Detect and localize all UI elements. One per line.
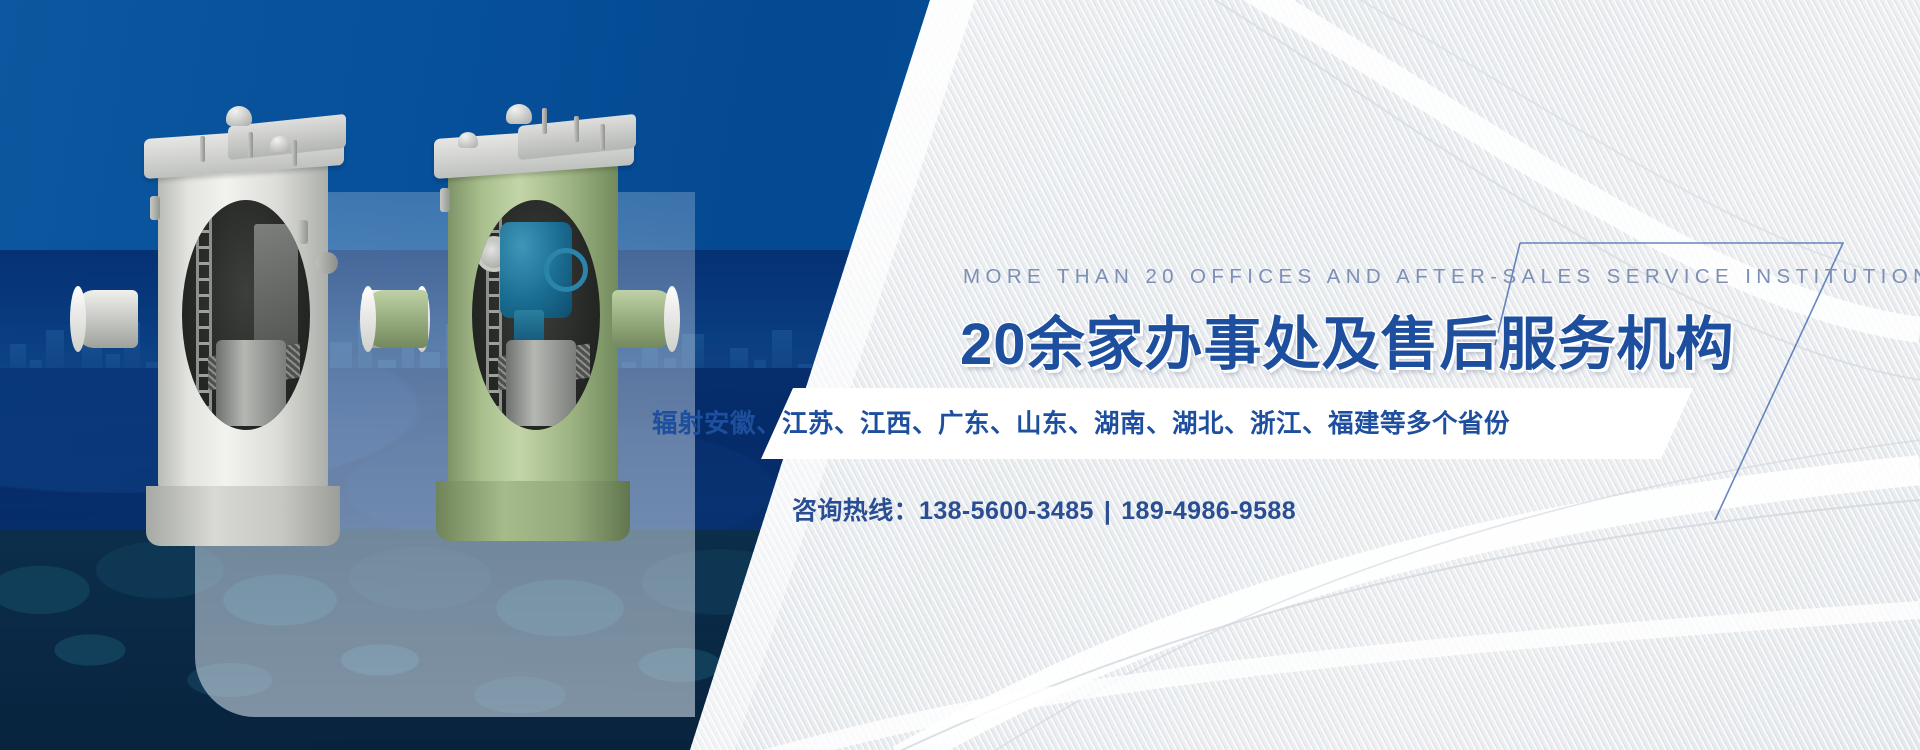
side-bracket: [298, 220, 308, 244]
internal-teal-valve-assembly: [500, 222, 572, 318]
vent-knob-secondary-icon: [458, 132, 478, 148]
grey-tank-base: [146, 486, 340, 546]
antenna-post: [600, 124, 605, 150]
hotline-primary-number[interactable]: 138-5600-3485: [919, 497, 1094, 525]
inlet-pipe: [366, 290, 428, 348]
internal-tank: [216, 340, 286, 426]
green-tank-base: [436, 481, 630, 541]
pipe-flange: [664, 286, 680, 352]
antenna-post: [200, 136, 205, 162]
pipe-flange: [70, 286, 86, 352]
outlet-pipe: [612, 290, 674, 348]
hotline-label: 咨询热线：: [792, 497, 919, 525]
hotline-separator: |: [1094, 497, 1121, 525]
hotline-row: 咨询热线：138-5600-3485|189-4986-9588: [792, 491, 1296, 527]
green-cutaway-window: [472, 200, 600, 430]
product-image-green-pump-station: [410, 110, 630, 505]
vent-knob-secondary-icon: [270, 136, 290, 152]
pipe-flange: [360, 286, 376, 352]
antenna-post: [574, 116, 579, 142]
side-bracket: [440, 188, 450, 212]
promo-banner: MORE THAN 20 OFFICES AND AFTER-SALES SER…: [0, 0, 1920, 750]
product-image-grey-pump-station: [120, 110, 380, 510]
vent-knob-icon: [226, 106, 252, 126]
internal-tank: [506, 340, 576, 426]
hotline-secondary-number[interactable]: 189-4986-9588: [1121, 497, 1296, 525]
side-port: [316, 252, 338, 274]
provinces-list: 辐射安徽、江苏、江西、广东、山东、湖南、湖北、浙江、福建等多个省份: [652, 403, 1510, 440]
page-title: 20余家办事处及售后服务机构: [960, 297, 1735, 381]
antenna-post: [248, 132, 253, 158]
english-subtitle: MORE THAN 20 OFFICES AND AFTER-SALES SER…: [963, 265, 1920, 289]
antenna-post: [542, 108, 547, 134]
vent-knob-icon: [506, 104, 532, 124]
side-bracket: [150, 196, 160, 220]
grey-cutaway-window: [182, 200, 310, 430]
antenna-post: [292, 140, 297, 166]
inlet-pipe: [76, 290, 138, 348]
